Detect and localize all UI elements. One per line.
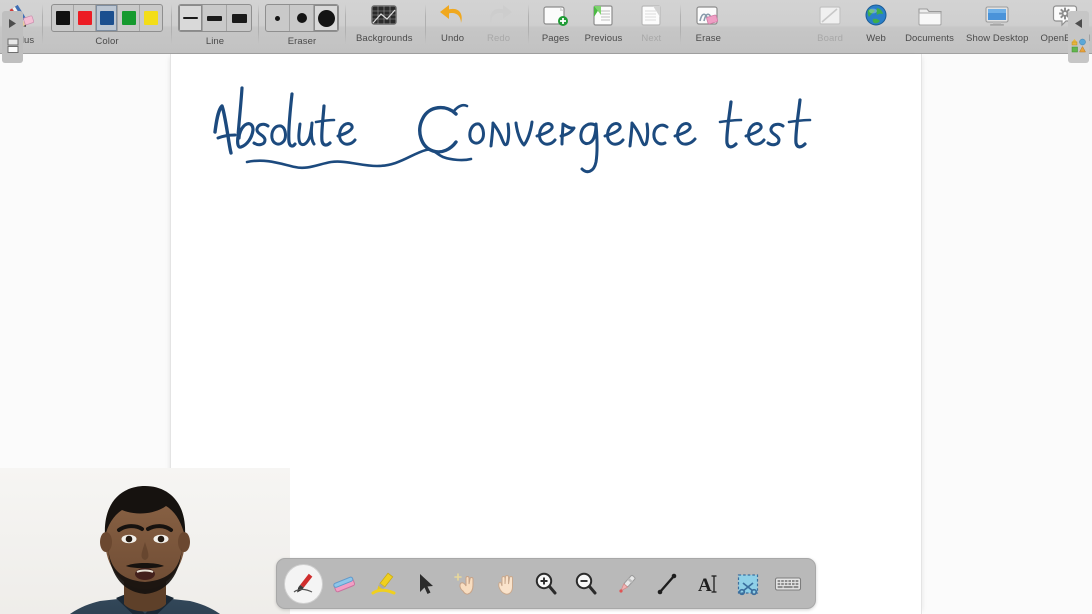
- page-thumbnails-icon[interactable]: [7, 38, 19, 59]
- next-page-button[interactable]: Next: [628, 0, 674, 44]
- backgrounds-label: Backgrounds: [356, 34, 413, 44]
- eraser-size-medium[interactable]: [290, 5, 314, 31]
- color-label: Color: [95, 37, 118, 47]
- eraser-size-small[interactable]: [266, 5, 290, 31]
- toolbar-group-eraser: Eraser: [259, 0, 345, 54]
- next-page-icon: [634, 0, 668, 32]
- zoom-in-tool-icon: [532, 571, 560, 597]
- text-tool-icon: A: [694, 571, 722, 597]
- pen-tool-icon: [290, 571, 318, 597]
- eraser-label: Eraser: [288, 37, 317, 47]
- next-label: Next: [641, 34, 661, 44]
- color-swatch-black[interactable]: [52, 5, 74, 31]
- svg-text:A: A: [698, 575, 712, 596]
- tool-palette: A: [276, 558, 816, 609]
- documents-label: Documents: [905, 34, 954, 44]
- collapse-left-arrow-icon[interactable]: [1073, 16, 1084, 34]
- right-sidebar-tab[interactable]: [1068, 11, 1089, 63]
- virtual-keyboard-tool-icon: [773, 571, 803, 597]
- line-width-medium[interactable]: [203, 5, 227, 31]
- laser-pointer-tool-icon: [613, 571, 641, 597]
- line-label: Line: [206, 37, 224, 47]
- undo-button[interactable]: Undo: [430, 0, 476, 44]
- color-swatch-blue[interactable]: [96, 5, 118, 31]
- select-arrow-tool-button[interactable]: [406, 565, 443, 603]
- color-swatch-red[interactable]: [74, 5, 96, 31]
- capture-tool-icon: [734, 571, 762, 597]
- toolbar-group-color: Color: [43, 0, 171, 54]
- toolbar-group-line: Line: [172, 0, 258, 54]
- eraser-tool-button[interactable]: [325, 565, 362, 603]
- erase-board-icon: [691, 0, 725, 32]
- pen-tool-button[interactable]: [285, 565, 322, 603]
- text-tool-button[interactable]: A: [689, 565, 726, 603]
- expand-right-arrow-icon[interactable]: [7, 16, 18, 34]
- documents-button[interactable]: Documents: [899, 0, 960, 44]
- erase-board-button[interactable]: Erase: [685, 0, 731, 44]
- add-page-icon: [539, 0, 573, 32]
- capture-tool-button[interactable]: [729, 565, 766, 603]
- backgrounds-icon: [367, 0, 401, 32]
- monitor-icon: [980, 0, 1014, 32]
- previous-page-button[interactable]: Previous: [579, 0, 629, 44]
- canvas-right-margin: [923, 54, 1092, 614]
- virtual-keyboard-tool-button[interactable]: [770, 565, 807, 603]
- redo-button[interactable]: Redo: [476, 0, 522, 44]
- pan-hand-tool-icon: [492, 571, 520, 597]
- previous-label: Previous: [585, 34, 623, 44]
- library-shapes-icon[interactable]: [1071, 38, 1086, 58]
- web-button[interactable]: Web: [853, 0, 899, 44]
- line-tool-icon: [653, 571, 681, 597]
- redo-arrow-icon: [482, 0, 516, 32]
- eraser-size-group: [265, 4, 339, 32]
- show-desktop-button[interactable]: Show Desktop: [960, 0, 1034, 44]
- color-swatch-yellow[interactable]: [140, 5, 162, 31]
- backgrounds-button[interactable]: Backgrounds: [350, 0, 419, 44]
- pages-button[interactable]: Pages: [533, 0, 579, 44]
- folder-icon: [913, 0, 947, 32]
- redo-label: Redo: [487, 34, 510, 44]
- board-label: Board: [817, 34, 843, 44]
- color-swatch-green[interactable]: [118, 5, 140, 31]
- line-tool-button[interactable]: [649, 565, 686, 603]
- select-arrow-tool-icon: [411, 571, 439, 597]
- color-swatch-group: [51, 4, 163, 32]
- undo-arrow-icon: [436, 0, 470, 32]
- canvas-area[interactable]: [0, 54, 1092, 614]
- pages-label: Pages: [542, 34, 569, 44]
- pointer-hand-tool-button[interactable]: [447, 565, 484, 603]
- zoom-out-tool-button[interactable]: [568, 565, 605, 603]
- board-icon: [813, 0, 847, 32]
- web-label: Web: [866, 34, 886, 44]
- toolbar-separator: [680, 4, 681, 44]
- eraser-tool-icon: [330, 571, 358, 597]
- toolbar-separator: [345, 4, 346, 44]
- left-sidebar-tab[interactable]: [2, 11, 23, 63]
- presenter-video-overlay: [0, 468, 290, 614]
- laser-pointer-tool-button[interactable]: [608, 565, 645, 603]
- eraser-size-large[interactable]: [314, 5, 338, 31]
- toolbar-separator: [528, 4, 529, 44]
- show-desktop-label: Show Desktop: [966, 34, 1028, 44]
- board-button[interactable]: Board: [807, 0, 853, 44]
- highlighter-tool-button[interactable]: [366, 565, 403, 603]
- highlighter-tool-icon: [370, 571, 398, 597]
- zoom-out-tool-icon: [572, 571, 600, 597]
- globe-icon: [859, 0, 893, 32]
- toolbar-separator: [425, 4, 426, 44]
- previous-page-icon: [586, 0, 620, 32]
- undo-label: Undo: [441, 34, 464, 44]
- pointer-hand-tool-icon: [451, 571, 479, 597]
- erase-label: Erase: [696, 34, 721, 44]
- zoom-in-tool-button[interactable]: [527, 565, 564, 603]
- pan-hand-tool-button[interactable]: [487, 565, 524, 603]
- line-width-group: [178, 4, 252, 32]
- line-width-thick[interactable]: [227, 5, 251, 31]
- top-toolbar: Stylus Color Line Eraser: [0, 0, 1092, 54]
- line-width-thin[interactable]: [179, 5, 203, 31]
